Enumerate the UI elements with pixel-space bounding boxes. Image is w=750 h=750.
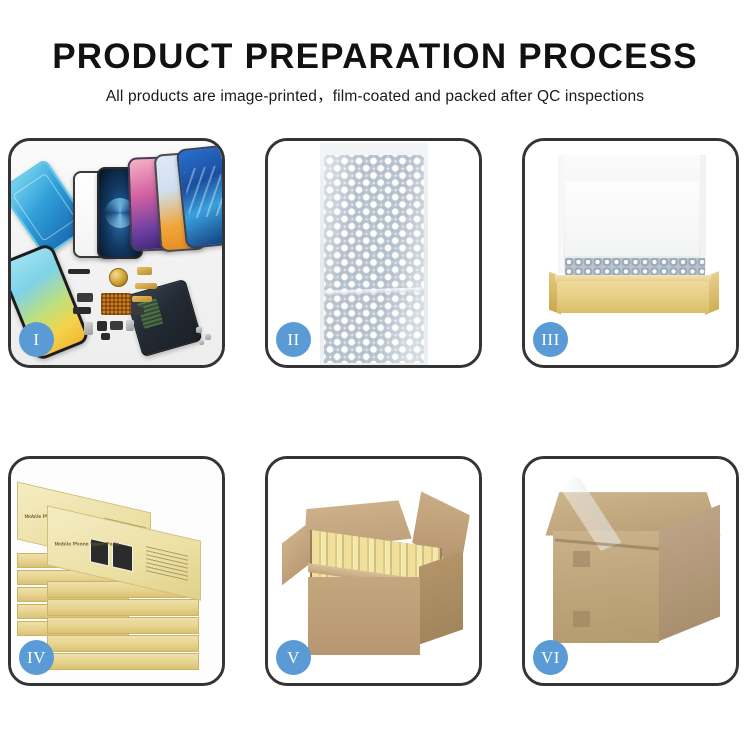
- process-step-panel-3[interactable]: III: [522, 138, 739, 368]
- step-badge-6: VI: [533, 640, 568, 675]
- process-step-panel-4[interactable]: Mobile Phone Spare Parts Mobile Phone Sp…: [8, 456, 225, 686]
- step-badge-2: II: [276, 322, 311, 357]
- process-step-panel-2[interactable]: II: [265, 138, 482, 368]
- printed-spec-lines: [146, 545, 188, 581]
- carton-front-face: [308, 577, 420, 655]
- spare-part: [135, 283, 157, 289]
- spare-part: [126, 320, 134, 331]
- spare-part: [73, 307, 91, 314]
- speaker-component: [109, 268, 128, 287]
- foam-sheet: [565, 181, 699, 256]
- process-step-grid: I II III: [8, 138, 743, 686]
- spare-part: [133, 307, 144, 315]
- gold-contact-grid: [101, 293, 131, 315]
- step-badge-3: III: [533, 322, 568, 357]
- stacked-box: [47, 635, 199, 652]
- stacked-box: [47, 653, 199, 670]
- step-badge-5: V: [276, 640, 311, 675]
- spare-part: [77, 293, 93, 302]
- page-title: PRODUCT PREPARATION PROCESS: [0, 0, 750, 77]
- spare-part: [132, 296, 152, 302]
- screw: [196, 327, 202, 333]
- screw: [205, 334, 211, 340]
- box-print-label: Mobile Phone Spare Parts: [54, 541, 120, 547]
- stacked-box: [47, 617, 199, 634]
- carton-side-face: [419, 551, 463, 644]
- page-subtitle: All products are image-printed，film-coat…: [0, 77, 750, 106]
- spare-part: [68, 269, 90, 274]
- step-badge-4: IV: [19, 640, 54, 675]
- page-header: PRODUCT PREPARATION PROCESS All products…: [0, 0, 750, 125]
- screw: [199, 340, 204, 345]
- spare-part: [137, 267, 152, 275]
- process-step-panel-1[interactable]: I: [8, 138, 225, 368]
- plastic-sheen: [324, 155, 424, 363]
- box-front-face: [557, 281, 709, 313]
- process-step-panel-6[interactable]: VI: [522, 456, 739, 686]
- spare-part: [110, 321, 123, 330]
- step-badge-1: I: [19, 322, 54, 357]
- carton-tab: [573, 551, 590, 567]
- spare-part: [101, 333, 110, 340]
- spare-part: [97, 321, 107, 331]
- stacked-box: [47, 599, 199, 616]
- carton-tab: [573, 611, 590, 627]
- spare-part: [84, 322, 93, 335]
- process-step-panel-5[interactable]: V: [265, 456, 482, 686]
